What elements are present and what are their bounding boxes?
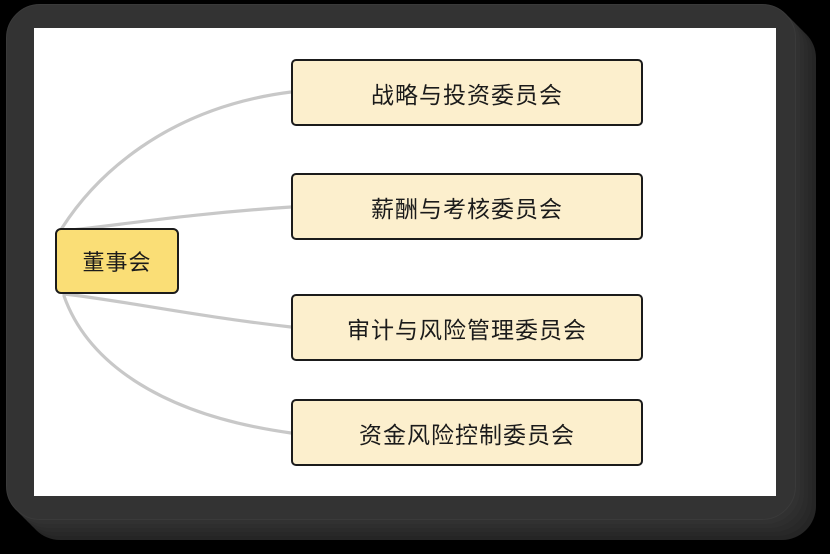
node-root-board[interactable]: 董事会 [55, 228, 179, 294]
node-capital-risk-control-committee[interactable]: 资金风险控制委员会 [291, 399, 643, 466]
node-compensation-appraisal-committee[interactable]: 薪酬与考核委员会 [291, 173, 643, 240]
node-audit-risk-management-committee[interactable]: 审计与风险管理委员会 [291, 294, 643, 361]
node-strategy-investment-committee[interactable]: 战略与投资委员会 [291, 59, 643, 126]
screenshot-root: 董事会 战略与投资委员会 薪酬与考核委员会 审计与风险管理委员会 资金风险控制委… [0, 0, 830, 554]
connector-root-to-child-3 [64, 296, 291, 433]
connector-root-to-child-0 [62, 92, 291, 228]
connector-root-to-child-2 [64, 294, 291, 327]
diagram-canvas: 董事会 战略与投资委员会 薪酬与考核委员会 审计与风险管理委员会 资金风险控制委… [34, 28, 776, 496]
